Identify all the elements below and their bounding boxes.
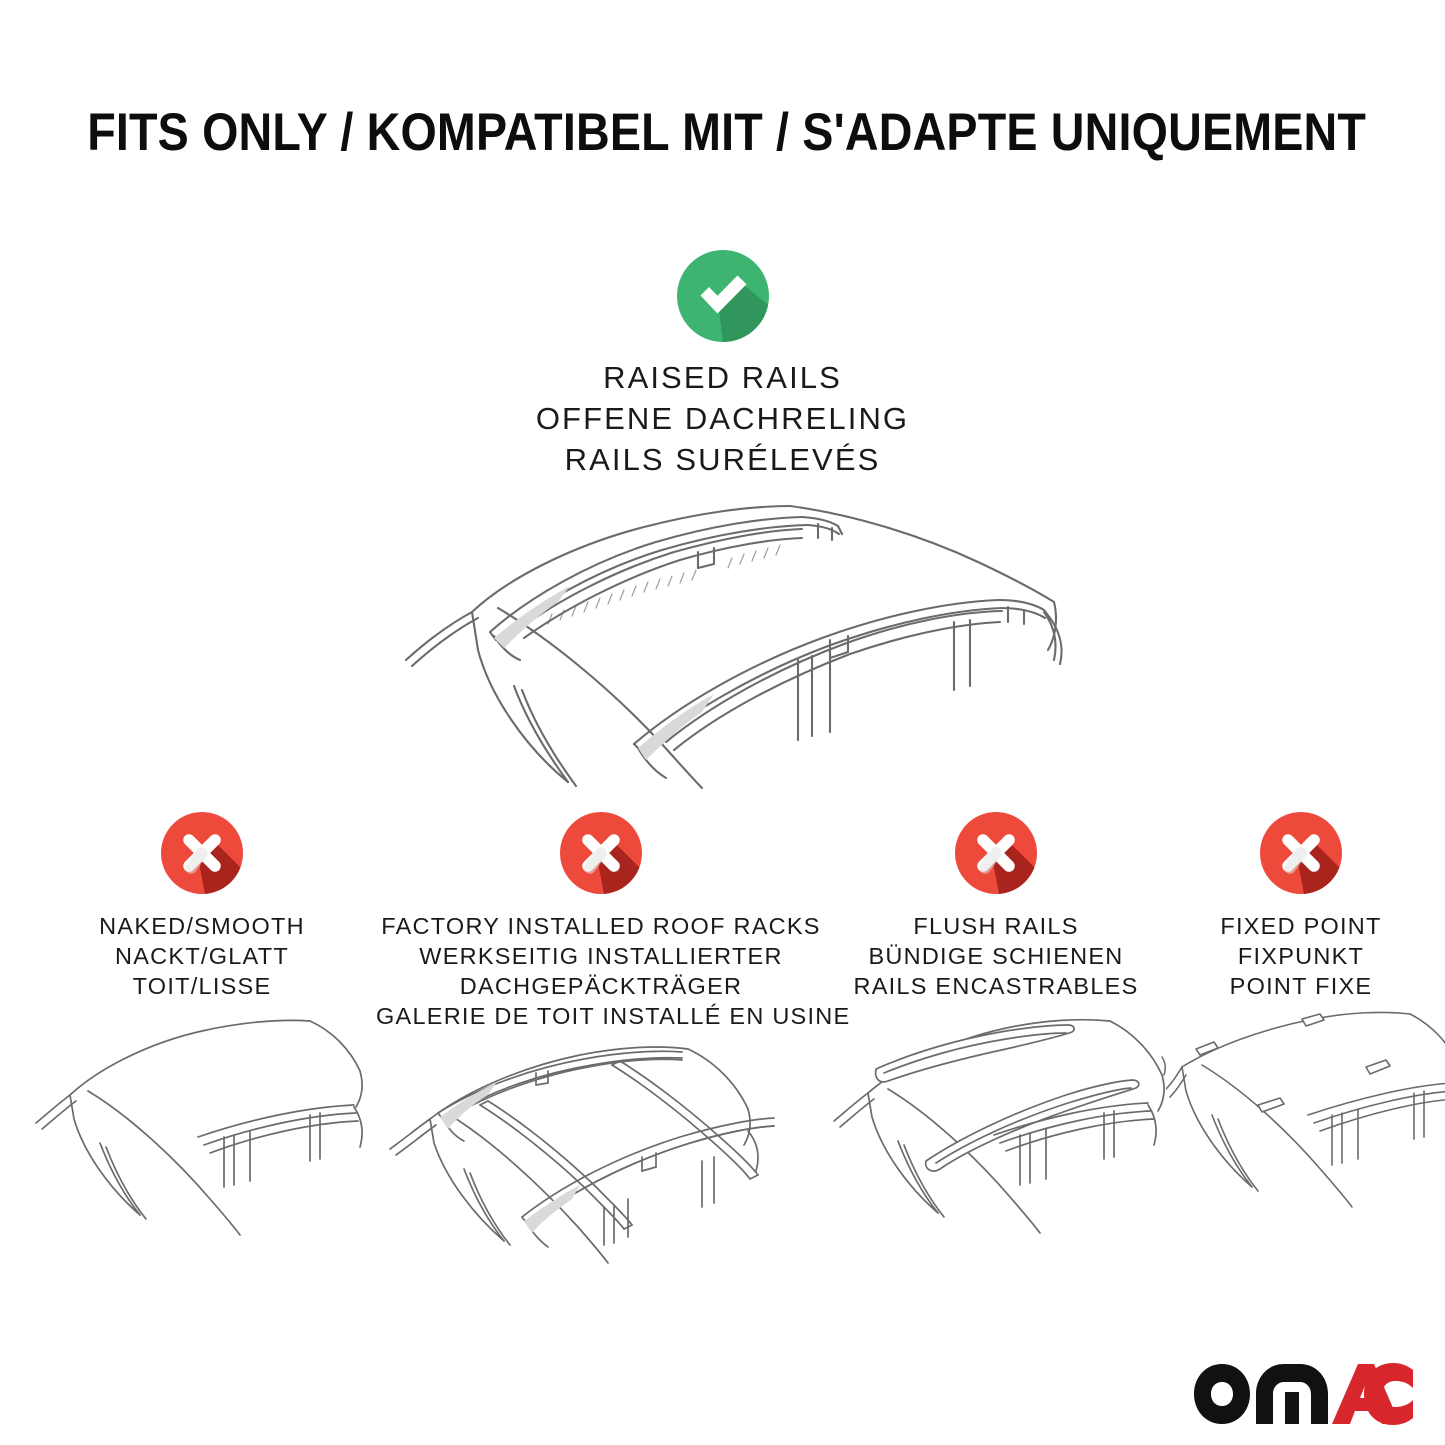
car-roof-naked-smooth-drawing bbox=[28, 1009, 376, 1239]
incompatible-item-fixed-point: FIXED POINT FIXPUNKT POINT FIXE bbox=[1166, 812, 1436, 1239]
factory-racks-label-en: FACTORY INSTALLED ROOF RACKS bbox=[376, 911, 826, 941]
compatible-label-de: OFFENE DACHRELING bbox=[0, 399, 1445, 440]
red-x-circle-icon bbox=[161, 812, 243, 894]
factory-racks-label-de-1: WERKSEITIG INSTALLIERTER bbox=[376, 941, 826, 971]
car-roof-flush-rails-drawing bbox=[826, 1009, 1166, 1239]
naked-smooth-label-de: NACKT/GLATT bbox=[28, 941, 376, 971]
factory-racks-label-de-2: DACHGEPÄCKTRÄGER bbox=[376, 971, 826, 1001]
red-x-circle-icon bbox=[560, 812, 642, 894]
red-x-circle-icon bbox=[1260, 812, 1342, 894]
car-roof-fixed-point-drawing bbox=[1166, 1009, 1436, 1239]
naked-smooth-labels: NAKED/SMOOTH NACKT/GLATT TOIT/LISSE bbox=[28, 911, 376, 1001]
fixed-point-labels: FIXED POINT FIXPUNKT POINT FIXE bbox=[1166, 911, 1436, 1001]
car-roof-factory-racks-drawing bbox=[376, 1039, 826, 1269]
fixed-point-label-fr: POINT FIXE bbox=[1166, 971, 1436, 1001]
fixed-point-label-de: FIXPUNKT bbox=[1166, 941, 1436, 971]
fixed-point-label-en: FIXED POINT bbox=[1166, 911, 1436, 941]
omac-logo bbox=[1190, 1360, 1418, 1432]
compatible-labels: RAISED RAILS OFFENE DACHRELING RAILS SUR… bbox=[0, 358, 1445, 481]
naked-smooth-label-en: NAKED/SMOOTH bbox=[28, 911, 376, 941]
compatible-label-fr: RAILS SURÉLEVÉS bbox=[0, 440, 1445, 481]
factory-racks-label-fr: GALERIE DE TOIT INSTALLÉ EN USINE bbox=[376, 1001, 826, 1031]
flush-rails-label-fr: RAILS ENCASTRABLES bbox=[826, 971, 1166, 1001]
flush-rails-labels: FLUSH RAILS BÜNDIGE SCHIENEN RAILS ENCAS… bbox=[826, 911, 1166, 1001]
omac-logo-mark bbox=[1190, 1360, 1418, 1432]
flush-rails-label-en: FLUSH RAILS bbox=[826, 911, 1166, 941]
compatible-label-en: RAISED RAILS bbox=[0, 358, 1445, 399]
incompatible-item-flush-rails: FLUSH RAILS BÜNDIGE SCHIENEN RAILS ENCAS… bbox=[826, 812, 1166, 1239]
car-roof-raised-rails-drawing bbox=[398, 490, 1088, 790]
compatibility-infographic: FITS ONLY / KOMPATIBEL MIT / S'ADAPTE UN… bbox=[0, 0, 1445, 1445]
naked-smooth-label-fr: TOIT/LISSE bbox=[28, 971, 376, 1001]
compatible-section: RAISED RAILS OFFENE DACHRELING RAILS SUR… bbox=[0, 250, 1445, 481]
incompatible-section: NAKED/SMOOTH NACKT/GLATT TOIT/LISSE bbox=[0, 812, 1445, 1412]
page-title: FITS ONLY / KOMPATIBEL MIT / S'ADAPTE UN… bbox=[0, 104, 1445, 162]
flush-rails-label-de: BÜNDIGE SCHIENEN bbox=[826, 941, 1166, 971]
red-x-circle-icon bbox=[955, 812, 1037, 894]
incompatible-item-naked-smooth: NAKED/SMOOTH NACKT/GLATT TOIT/LISSE bbox=[28, 812, 376, 1239]
green-check-circle-icon bbox=[677, 250, 769, 342]
factory-racks-labels: FACTORY INSTALLED ROOF RACKS WERKSEITIG … bbox=[376, 911, 826, 1031]
page-title-text: FITS ONLY / KOMPATIBEL MIT / S'ADAPTE UN… bbox=[87, 104, 1366, 162]
incompatible-item-factory-racks: FACTORY INSTALLED ROOF RACKS WERKSEITIG … bbox=[376, 812, 826, 1269]
